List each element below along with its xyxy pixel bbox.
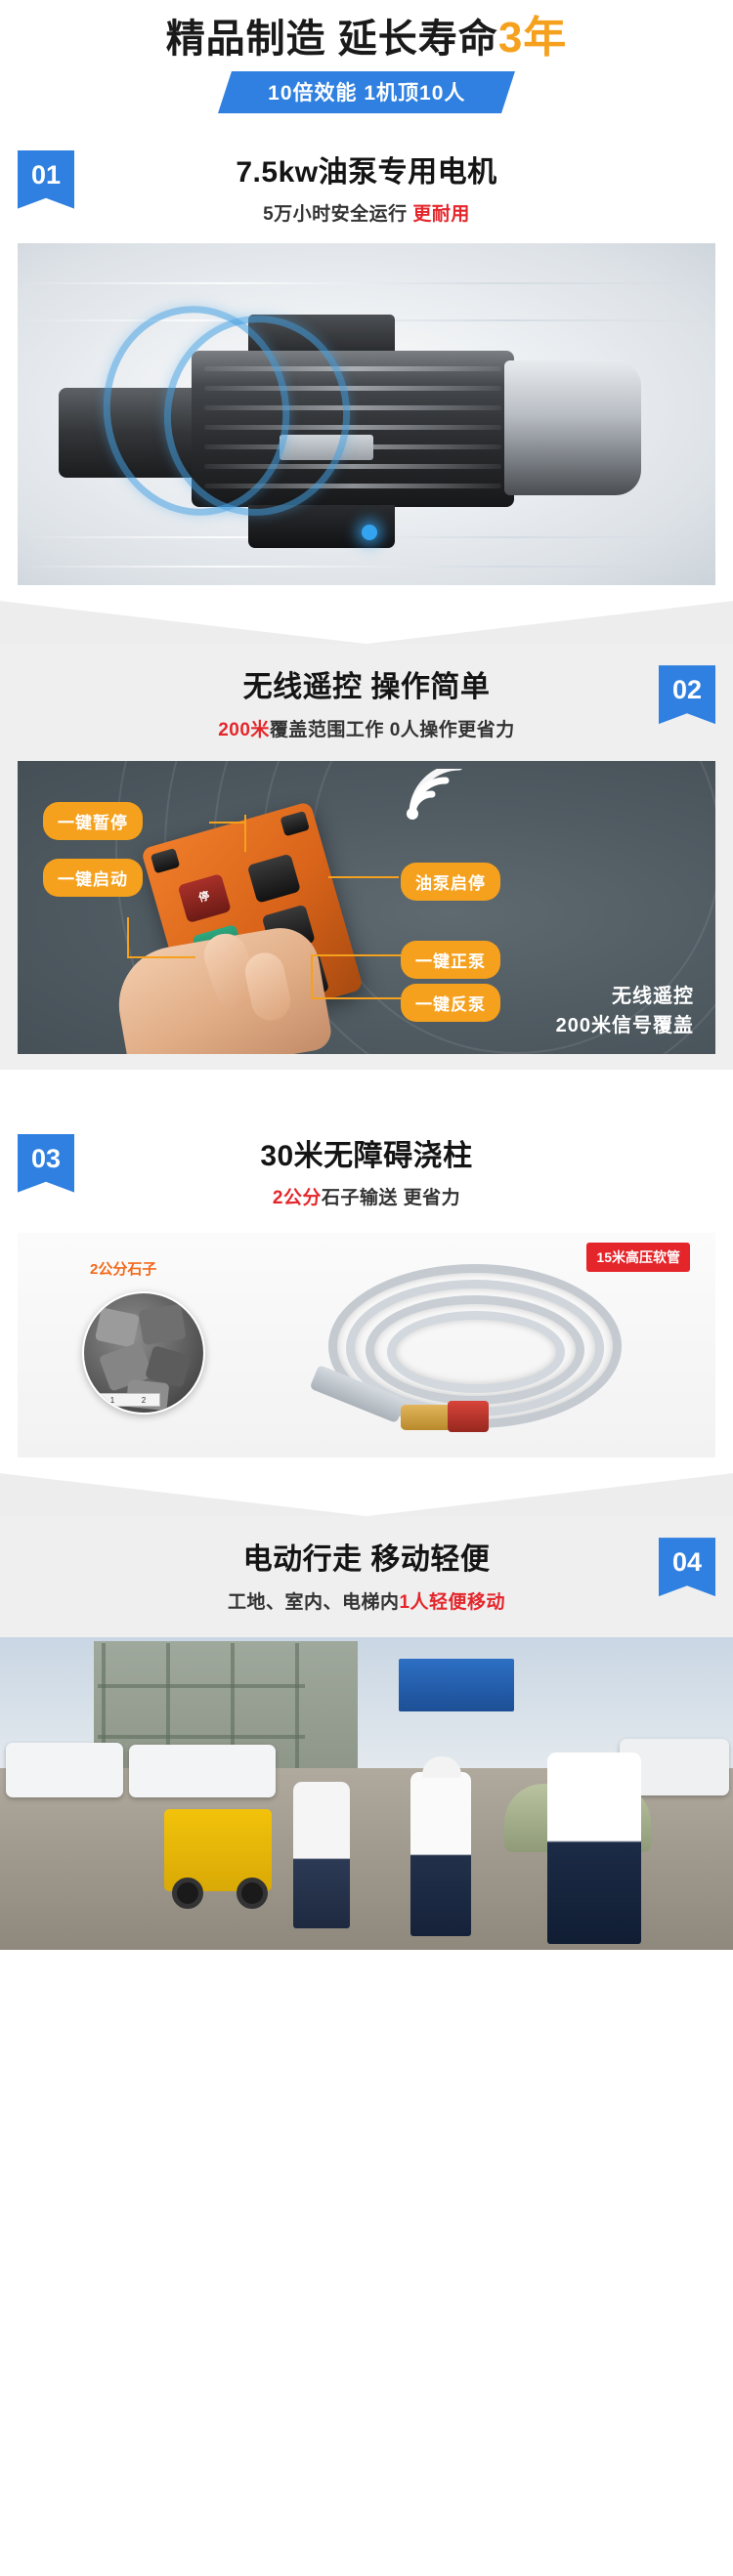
- section-01-sub-highlight: 更耐用: [412, 204, 470, 225]
- callout-pump-reverse: 一键反泵: [401, 984, 500, 1022]
- callout-pause: 一键暂停: [43, 802, 143, 840]
- section-03-head: 03 30米无障碍浇柱 2公分石子输送 更省力: [0, 1113, 733, 1224]
- callout-pump-toggle: 油泵启停: [401, 863, 500, 901]
- machine-wheel: [237, 1878, 268, 1909]
- section-01-subtitle: 5万小时安全运行 更耐用: [0, 199, 733, 226]
- product-detail-page: 精品制造 延长寿命3年 10倍效能 1机顶10人 01 7.5kw油泵专用电机 …: [0, 0, 733, 1950]
- worker-foreground: [547, 1753, 641, 1944]
- section-04-title: 电动行走 移动轻便: [0, 1541, 733, 1579]
- section-03-sub-plain: 石子输送 更省力: [322, 1188, 460, 1208]
- hose-label: 15米高压软管: [586, 1243, 690, 1272]
- remote-key-stop: 停: [178, 873, 232, 923]
- page-title: 精品制造 延长寿命3年: [0, 14, 733, 63]
- spacer: [0, 585, 733, 601]
- section-04: 04 电动行走 移动轻便 工地、室内、电梯内1人轻便移动: [0, 1516, 733, 1950]
- section-03-subtitle: 2公分石子输送 更省力: [0, 1183, 733, 1209]
- section-02: 02 无线遥控 操作简单 200米覆盖范围工作 0人操作更省力 停: [0, 644, 733, 1054]
- ruler-tick-1: 1: [110, 1396, 114, 1405]
- section-03-title: 30米无障碍浇柱: [0, 1138, 733, 1175]
- remote-photo: 停: [18, 761, 715, 1054]
- headline-accent: 3年: [498, 14, 567, 62]
- hose-coupling-red: [448, 1401, 489, 1432]
- remote-note-line2: 200米信号覆盖: [556, 1011, 694, 1040]
- worker-operator: [410, 1772, 471, 1936]
- vehicle-white-van: [129, 1745, 276, 1797]
- remote-note: 无线遥控 200米信号覆盖: [556, 982, 694, 1040]
- section-02-head: 02 无线遥控 操作简单 200米覆盖范围工作 0人操作更省力: [0, 644, 733, 755]
- headline-main: 精品制造 延长寿命: [166, 18, 498, 61]
- stone-label: 2公分石子: [90, 1258, 156, 1279]
- section-04-sub-red: 1人轻便移动: [399, 1592, 505, 1613]
- hose-photo: 2公分石子 1 2 15米高压软管: [18, 1233, 715, 1457]
- machine-wheel: [172, 1878, 203, 1909]
- hose-coupling-brass: [401, 1405, 452, 1430]
- worker-white-shirt: [293, 1782, 350, 1928]
- section-03-sub-red: 2公分: [273, 1188, 322, 1208]
- stone-sample-circle: 1 2: [82, 1291, 205, 1415]
- section-04-head: 04 电动行走 移动轻便 工地、室内、电梯内1人轻便移动: [0, 1516, 733, 1627]
- spacer: [0, 113, 733, 129]
- section-01: 01 7.5kw油泵专用电机 5万小时安全运行 更耐用: [0, 129, 733, 586]
- sub-banner: 10倍效能 1机顶10人: [218, 71, 515, 113]
- callout-pump-forward: 一键正泵: [401, 941, 500, 979]
- site-photo: [0, 1637, 733, 1950]
- section-03: 03 30米无障碍浇柱 2公分石子输送 更省力 2公分石子 1 2 15米高压软…: [0, 1113, 733, 1458]
- spacer: [0, 1054, 733, 1070]
- remote-key-pump: [247, 853, 301, 903]
- section-01-sub-plain: 5万小时安全运行: [263, 204, 412, 225]
- section-divider-chevron: [0, 601, 733, 644]
- ruler-tick-2: 2: [142, 1396, 146, 1405]
- site-banner: [399, 1659, 514, 1711]
- motor-nose: [504, 360, 641, 495]
- section-02-title: 无线遥控 操作简单: [0, 669, 733, 706]
- sub-banner-label: 10倍效能 1机顶10人: [268, 77, 465, 106]
- spacer: [0, 1457, 733, 1473]
- section-01-head: 01 7.5kw油泵专用电机 5万小时安全运行 更耐用: [0, 129, 733, 240]
- remote-note-line1: 无线遥控: [556, 982, 694, 1011]
- section-02-sub-plain: 覆盖范围工作 0人操作更省力: [270, 720, 515, 740]
- section-04-subtitle: 工地、室内、电梯内1人轻便移动: [0, 1587, 733, 1614]
- page-header: 精品制造 延长寿命3年 10倍效能 1机顶10人: [0, 0, 733, 113]
- section-02-sub-red: 200米: [218, 720, 270, 740]
- section-divider-chevron: [0, 1473, 733, 1516]
- ruler: 1 2: [96, 1393, 160, 1407]
- callout-start: 一键启动: [43, 859, 143, 897]
- section-04-sub-plain: 工地、室内、电梯内: [228, 1592, 400, 1613]
- vehicle-white-suv: [6, 1743, 123, 1797]
- section-01-title: 7.5kw油泵专用电机: [0, 154, 733, 191]
- motor-led: [362, 525, 377, 540]
- motor-photo: [18, 243, 715, 585]
- section-divider-chevron: [0, 1070, 733, 1113]
- wifi-icon: [401, 769, 471, 823]
- sub-banner-wrap: 10倍效能 1机顶10人: [0, 71, 733, 113]
- section-02-subtitle: 200米覆盖范围工作 0人操作更省力: [0, 715, 733, 741]
